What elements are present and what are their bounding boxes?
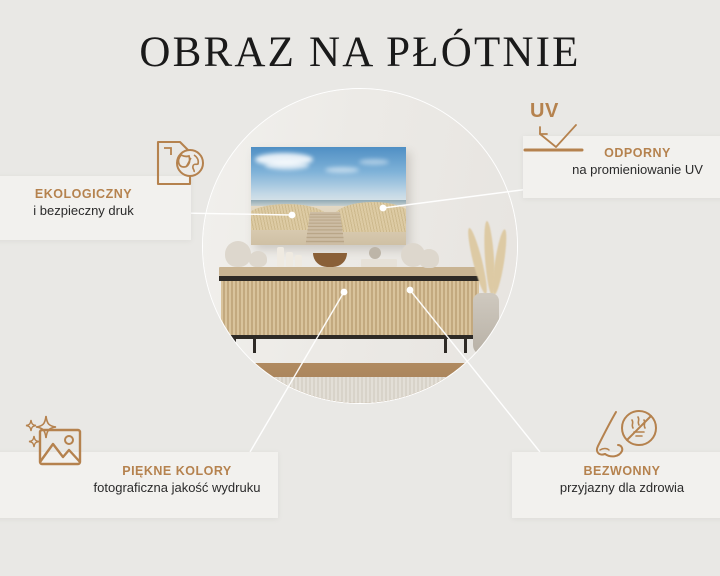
sideboard-leg <box>233 339 236 353</box>
ceramic-vase <box>419 249 439 268</box>
dune-grass-right <box>334 202 406 232</box>
feature-kicker-colors: PIĘKNE KOLORY <box>82 464 272 478</box>
sideboard-base <box>219 335 481 339</box>
feature-sub-odor: przyjazny dla zdrowia <box>518 480 720 495</box>
ceramic-bowl <box>249 251 267 267</box>
feature-sub-uv: na promieniowanie UV <box>537 162 720 177</box>
sideboard <box>219 267 481 345</box>
sideboard-leg <box>253 339 256 353</box>
feature-sub-eco: i bezpieczny druk <box>0 203 181 218</box>
canvas-artwork <box>251 147 406 245</box>
books <box>361 259 397 267</box>
nose-no-smell-icon <box>583 406 661 468</box>
sideboard-fluted-doors <box>221 281 479 335</box>
room-interior <box>202 88 518 404</box>
room-scene <box>202 88 518 488</box>
cloud <box>265 161 309 170</box>
cloud <box>325 167 359 173</box>
scene-circle-mask <box>202 88 518 404</box>
sideboard-leg <box>464 339 467 353</box>
document-leaf-globe-icon <box>150 138 206 194</box>
rug <box>202 377 518 404</box>
uv-resistant-icon <box>520 100 590 160</box>
candle <box>295 255 302 267</box>
cloud <box>359 159 389 165</box>
sideboard-top <box>219 267 481 276</box>
candle <box>277 247 284 267</box>
floor-vase <box>473 293 499 355</box>
boardwalk <box>305 212 346 245</box>
ceramic-vase <box>225 241 251 267</box>
page-title: OBRAZ NA PŁÓTNIE <box>0 28 720 77</box>
decor-sphere <box>369 247 381 259</box>
feature-sub-colors: fotograficzna jakość wydruku <box>82 480 272 495</box>
photo-sparkle-icon <box>22 414 88 476</box>
candle <box>286 252 293 267</box>
sideboard-leg <box>444 339 447 353</box>
